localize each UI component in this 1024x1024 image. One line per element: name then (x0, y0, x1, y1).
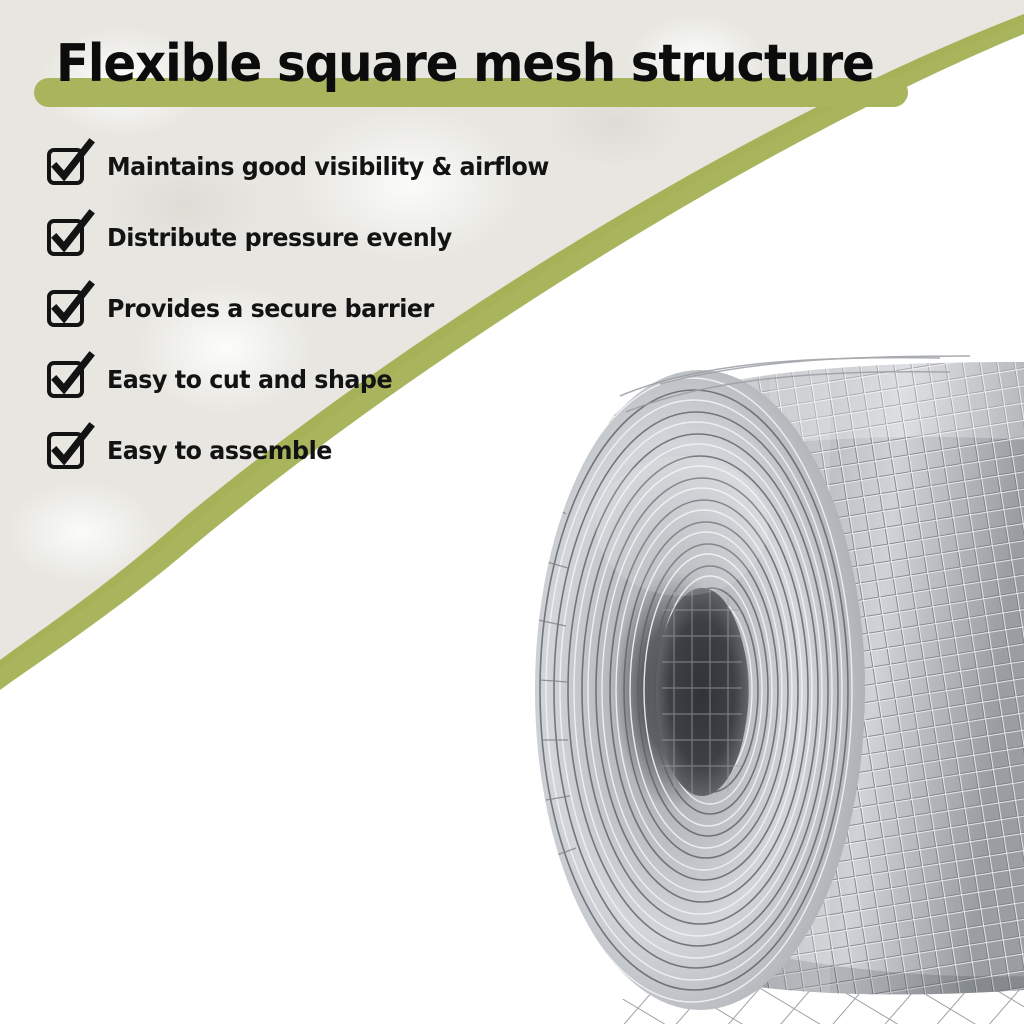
roll-core-hole (656, 588, 748, 796)
feature-label: Easy to cut and shape (107, 365, 392, 394)
checkbox-checked-icon (48, 290, 85, 327)
checkbox-checked-icon (48, 219, 85, 256)
page-title: Flexible square mesh structure (56, 36, 912, 93)
feature-label: Provides a secure barrier (107, 294, 434, 323)
feature-label: Distribute pressure evenly (107, 223, 452, 252)
list-item: Maintains good visibility & airflow (48, 146, 608, 217)
list-item: Distribute pressure evenly (48, 217, 608, 288)
checkbox-checked-icon (48, 148, 85, 185)
feature-label: Easy to assemble (107, 436, 332, 465)
checkbox-checked-icon (48, 361, 85, 398)
product-feature-banner: Flexible square mesh structure Maintains… (0, 0, 1024, 1024)
checkbox-checked-icon (48, 432, 85, 469)
product-image (470, 300, 1024, 1024)
feature-label: Maintains good visibility & airflow (107, 152, 549, 181)
